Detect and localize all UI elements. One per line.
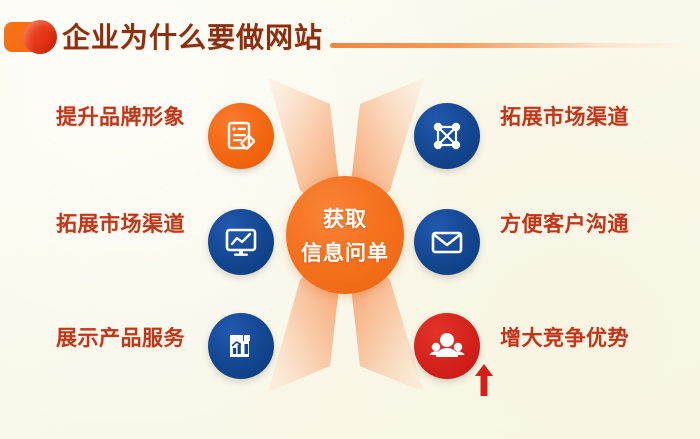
monitor-chart-icon [222,223,260,261]
feature-label-brand-image: 提升品牌形象 [56,101,185,131]
title-underline-rule [330,43,690,48]
hub-label-line2: 信息问单 [301,237,389,267]
icon-bubble-market-channels-right[interactable] [414,103,480,169]
network-nodes-icon [428,117,466,155]
icon-bubble-competitive-advantage[interactable] [414,313,480,379]
feature-label-product-services: 展示产品服务 [56,322,185,352]
page-title: 企业为什么要做网站 [62,16,323,56]
up-arrow-icon [473,363,495,397]
feature-label-customer-communication: 方便客户沟通 [500,208,629,238]
feature-label-market-channels-left: 拓展市场渠道 [56,208,185,238]
people-group-icon [428,327,466,365]
icon-bubble-market-channels-left[interactable] [208,209,274,275]
brand-logo [4,20,60,54]
hub-label-line1: 获取 [323,203,367,233]
icon-bubble-product-services[interactable] [208,313,274,379]
infographic-canvas: 企业为什么要做网站 获取 信息问单 [0,0,700,439]
feature-label-competitive-advantage: 增大竞争优势 [500,322,629,352]
document-edit-icon [223,118,259,154]
feature-label-market-channels-right: 拓展市场渠道 [500,101,629,131]
center-hub: 获取 信息问单 [286,176,404,294]
header: 企业为什么要做网站 [0,0,700,74]
envelope-icon [428,223,466,261]
logo-circle-shape [23,20,57,54]
icon-bubble-customer-communication[interactable] [414,209,480,275]
bar-chart-icon [223,328,259,364]
icon-bubble-brand-image[interactable] [208,103,274,169]
